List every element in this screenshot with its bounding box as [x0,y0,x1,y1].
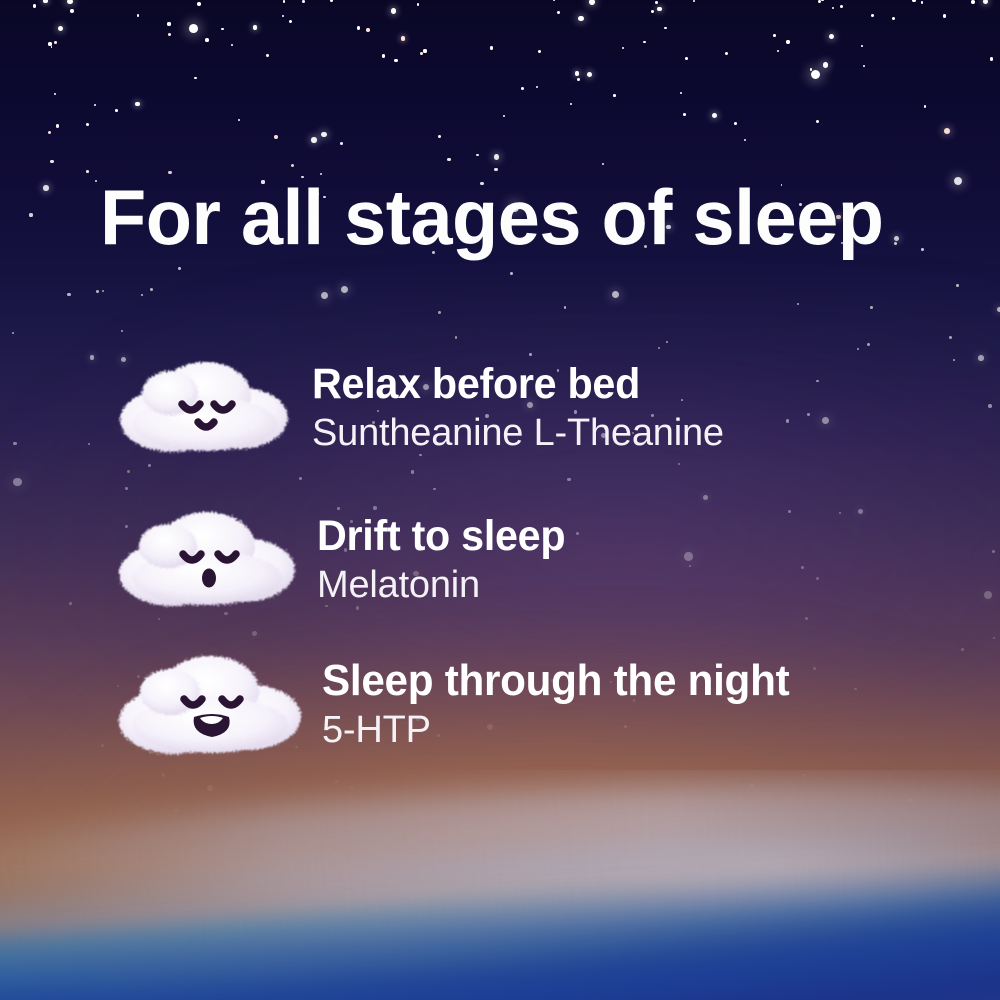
feature-text: Sleep through the night 5-HTP [322,657,809,753]
feature-subtitle: Suntheanine L-Theanine [312,410,724,456]
feature-list: Relax before bed Suntheanine L-Theanine [0,0,1000,1000]
sleep-poster: For all stages of sleep [0,0,1000,1000]
feature-text: Relax before bed Suntheanine L-Theanine [312,360,724,456]
feature-row: Sleep through the night 5-HTP [110,645,950,765]
sleepy-cloud-yawning-icon [110,645,310,765]
feature-subtitle: 5-HTP [322,707,809,753]
feature-subtitle: Melatonin [317,562,576,608]
feature-title: Sleep through the night [322,657,789,705]
feature-title: Relax before bed [312,360,707,408]
cloud-mouth [202,569,216,588]
sleepy-cloud-oh-icon [110,500,305,620]
feature-title: Drift to sleep [317,512,565,560]
feature-row: Drift to sleep Melatonin [110,500,950,620]
feature-row: Relax before bed Suntheanine L-Theanine [110,348,950,468]
sleepy-cloud-smiling-icon [110,348,300,468]
feature-text: Drift to sleep Melatonin [317,512,576,608]
